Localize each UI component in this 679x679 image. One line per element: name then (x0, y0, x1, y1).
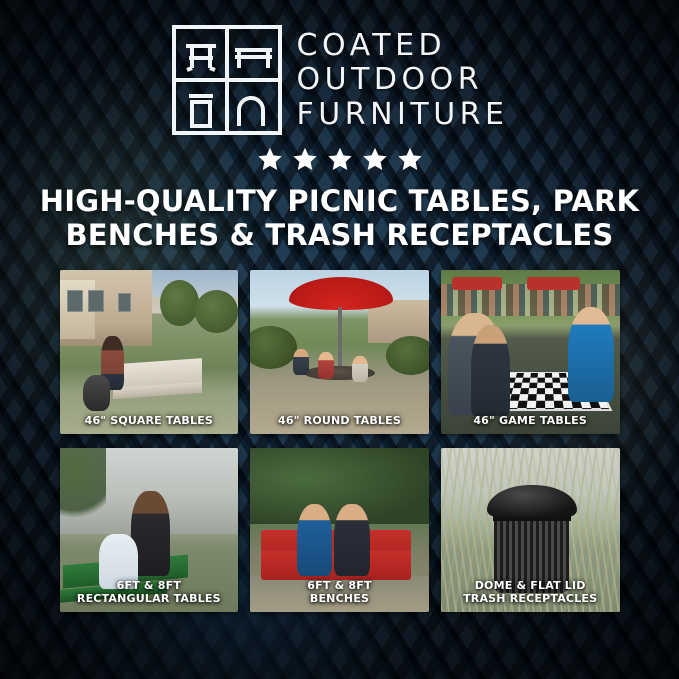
brand-name-line-1: COATED (297, 29, 509, 63)
photo-canopy (527, 277, 581, 290)
product-ad-banner: COATED OUTDOOR FURNITURE HIGH-QUALITY PI… (0, 0, 679, 679)
caption-line: 6FT & 8FT (252, 580, 427, 593)
product-grid: 46" SQUARE TABLES 46" ROUND TABLE (60, 270, 620, 612)
product-caption-benches: 6FT & 8FT BENCHES (250, 575, 429, 612)
headline-line-2: BENCHES & TRASH RECEPTACLES (40, 218, 639, 252)
product-tile-trash-receptacles[interactable]: DOME & FLAT LID TRASH RECEPTACLES (441, 448, 620, 612)
product-tile-square-tables[interactable]: 46" SQUARE TABLES (60, 270, 239, 434)
caption-line: 46" ROUND TABLES (252, 415, 427, 428)
photo-window (67, 290, 83, 312)
product-tile-round-tables[interactable]: 46" ROUND TABLES (250, 270, 429, 434)
brand-name: COATED OUTDOOR FURNITURE (297, 29, 509, 132)
photo-person (293, 349, 309, 375)
photo-shrub (386, 336, 429, 375)
photo-person (568, 307, 614, 402)
photo-tree (160, 280, 199, 326)
star-icon (257, 146, 283, 172)
caption-line: 46" SQUARE TABLES (62, 415, 237, 428)
caption-line: 6FT & 8FT (62, 580, 237, 593)
caption-line: BENCHES (252, 593, 427, 606)
photo-vine (60, 448, 106, 527)
photo-window (88, 290, 104, 312)
brand-name-line-3: FURNITURE (297, 98, 509, 132)
photo-shrub (250, 326, 296, 369)
brand-name-line-2: OUTDOOR (297, 63, 509, 97)
product-caption-rectangular-tables: 6FT & 8FT RECTANGULAR TABLES (60, 575, 239, 612)
product-caption-trash-receptacles: DOME & FLAT LID TRASH RECEPTACLES (441, 575, 620, 612)
product-caption-round-tables: 46" ROUND TABLES (250, 410, 429, 435)
star-icon (292, 146, 318, 172)
photo-person (297, 504, 333, 576)
star-icon (327, 146, 353, 172)
photo-person (318, 352, 334, 378)
photo-person (352, 356, 368, 382)
caption-line: TRASH RECEPTACLES (443, 593, 618, 606)
photo-red-umbrella (289, 277, 393, 310)
star-icon (362, 146, 388, 172)
caption-line: 46" GAME TABLES (443, 415, 618, 428)
product-tile-rectangular-tables[interactable]: 6FT & 8FT RECTANGULAR TABLES (60, 448, 239, 612)
brand-logo: COATED OUTDOOR FURNITURE (171, 24, 509, 136)
photo-person (471, 325, 510, 417)
photo-window (118, 293, 131, 311)
headline: HIGH-QUALITY PICNIC TABLES, PARK BENCHES… (40, 184, 639, 252)
photo-tree (195, 290, 238, 333)
ad-content: COATED OUTDOOR FURNITURE HIGH-QUALITY PI… (0, 0, 679, 679)
photo-dog (83, 375, 110, 411)
rating-stars (257, 146, 423, 172)
picnic-table-bench-grid-logo-icon (171, 24, 283, 136)
star-icon (397, 146, 423, 172)
caption-line: RECTANGULAR TABLES (62, 593, 237, 606)
photo-person (334, 504, 370, 576)
product-caption-game-tables: 46" GAME TABLES (441, 410, 620, 435)
headline-line-1: HIGH-QUALITY PICNIC TABLES, PARK (40, 184, 639, 218)
product-tile-benches[interactable]: 6FT & 8FT BENCHES (250, 448, 429, 612)
product-caption-square-tables: 46" SQUARE TABLES (60, 410, 239, 435)
photo-canopy (452, 277, 502, 290)
caption-line: DOME & FLAT LID (443, 580, 618, 593)
product-tile-game-tables[interactable]: 46" GAME TABLES (441, 270, 620, 434)
